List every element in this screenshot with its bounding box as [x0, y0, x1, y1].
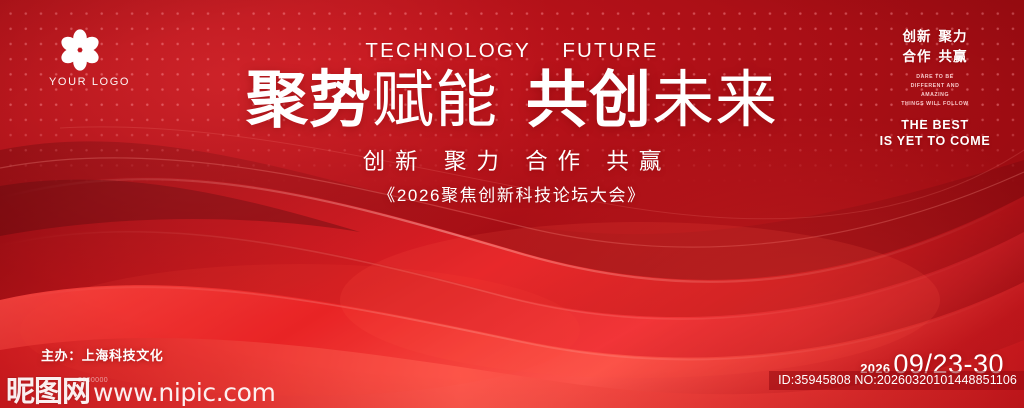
- right-cn-line-2: 合作共赢: [860, 47, 1010, 67]
- hero-tagline: 《2026聚焦创新科技论坛大会》: [0, 181, 1024, 206]
- right-cn-line-1: 创新聚力: [860, 27, 1010, 47]
- right-cn-1a: 创新: [903, 29, 932, 44]
- right-cn-1b: 聚力: [939, 29, 968, 44]
- organizer-text: 主办：上海科技文化: [41, 345, 163, 364]
- right-small-line-2: DIFFERENT AND: [860, 82, 1010, 91]
- right-big-line-1: THE BEST: [860, 117, 1010, 134]
- right-small-line-1: DARE TO BE: [860, 73, 1010, 82]
- right-big-line-2: IS YET TO COME: [860, 133, 1010, 150]
- headline-part-3: 共创: [526, 66, 652, 135]
- headline-part-2: 赋能: [372, 66, 498, 135]
- right-big-text: THE BEST IS YET TO COME: [860, 117, 1010, 150]
- headline-part-4: 未来: [652, 66, 778, 135]
- watermark-site-url: www.nipic.com: [93, 380, 275, 406]
- right-small-text: DARE TO BE DIFFERENT AND AMAZING THINGS …: [860, 73, 1010, 109]
- right-cn-2b: 共赢: [939, 49, 968, 64]
- watermark-dots: 8000000: [78, 377, 108, 384]
- eyebrow-right: FUTURE: [562, 39, 658, 62]
- right-small-line-3: AMAZING: [860, 91, 1010, 100]
- right-cn-2a: 合作: [903, 49, 932, 64]
- right-small-line-4: THINGS WILL FOLLOW: [860, 100, 1010, 109]
- image-id-bar: ID:35945808 NO:20260320101448851106: [769, 371, 1024, 390]
- eyebrow-left: TECHNOLOGY: [365, 39, 530, 62]
- right-info-block: 创新聚力 合作共赢 DARE TO BE DIFFERENT AND AMAZI…: [860, 27, 1010, 150]
- headline-part-1: 聚势: [246, 66, 372, 135]
- watermark-logo: 昵图网 www.nipic.com: [6, 377, 276, 406]
- poster-banner: YOUR LOGO TECHNOLOGY FUTURE 聚势赋能共创未来 创新 …: [0, 0, 1024, 408]
